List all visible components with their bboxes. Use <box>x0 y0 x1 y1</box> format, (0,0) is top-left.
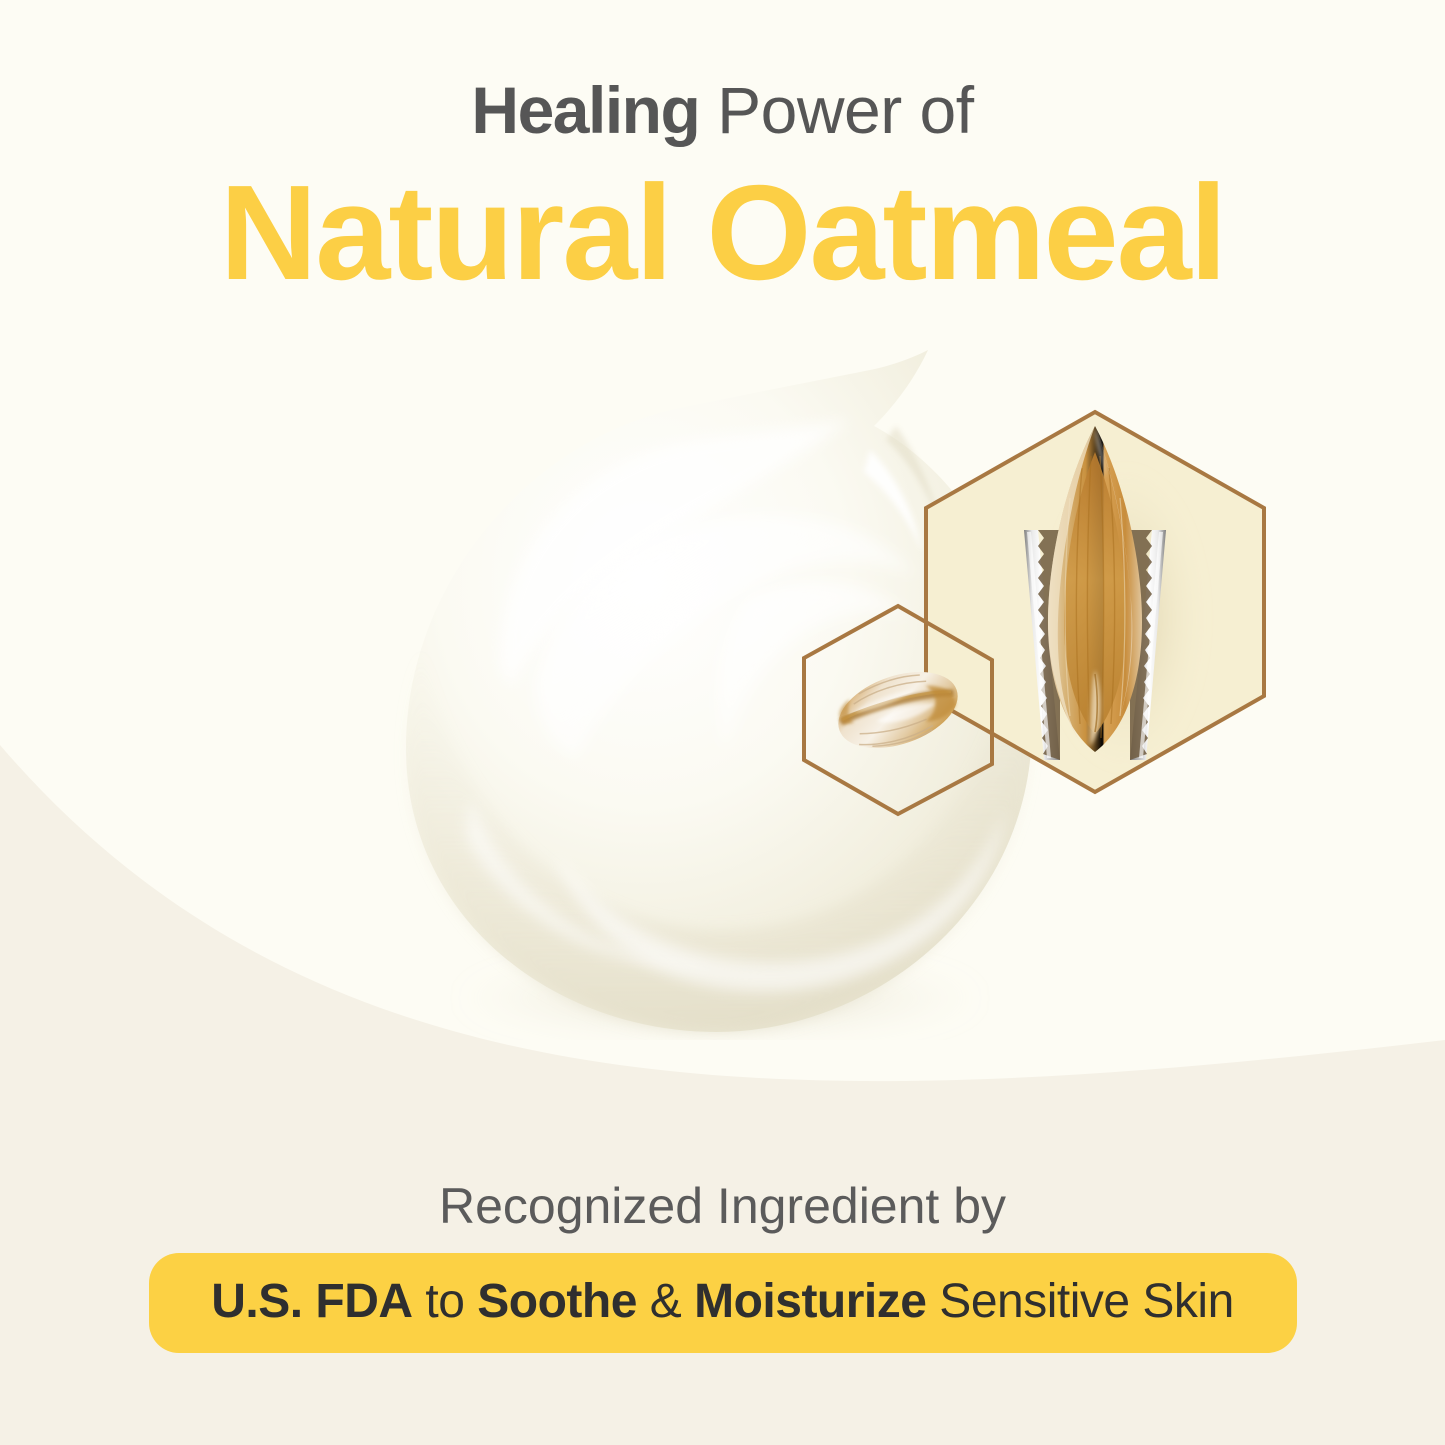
fda-to: to <box>413 1275 478 1328</box>
headline-line-2: Natural Oatmeal <box>0 158 1445 308</box>
headline-power-of: Power of <box>699 73 973 147</box>
moisturize-label: Moisturize <box>694 1275 926 1328</box>
ampersand: & <box>637 1275 694 1328</box>
hexagon-badge-oat-flake <box>800 602 996 818</box>
soothe-label: Soothe <box>477 1275 637 1328</box>
fda-label: U.S. FDA <box>211 1275 412 1328</box>
recognized-ingredient-label: Recognized Ingredient by <box>0 1175 1445 1237</box>
fda-claim-banner: U.S. FDA to Soothe & Moisturize Sensitiv… <box>149 1253 1297 1353</box>
promo-banner-root: Healing Power of Natural Oatmeal <box>0 0 1445 1445</box>
headline-healing: Healing <box>471 73 699 147</box>
headline-group: Healing Power of Natural Oatmeal <box>0 70 1445 308</box>
fda-claim-text: U.S. FDA to Soothe & Moisturize Sensitiv… <box>189 1275 1257 1329</box>
headline-line-1: Healing Power of <box>0 70 1445 150</box>
footer-group: Recognized Ingredient by U.S. FDA to Soo… <box>0 1175 1445 1353</box>
sensitive-skin-label: Sensitive Skin <box>926 1275 1233 1328</box>
